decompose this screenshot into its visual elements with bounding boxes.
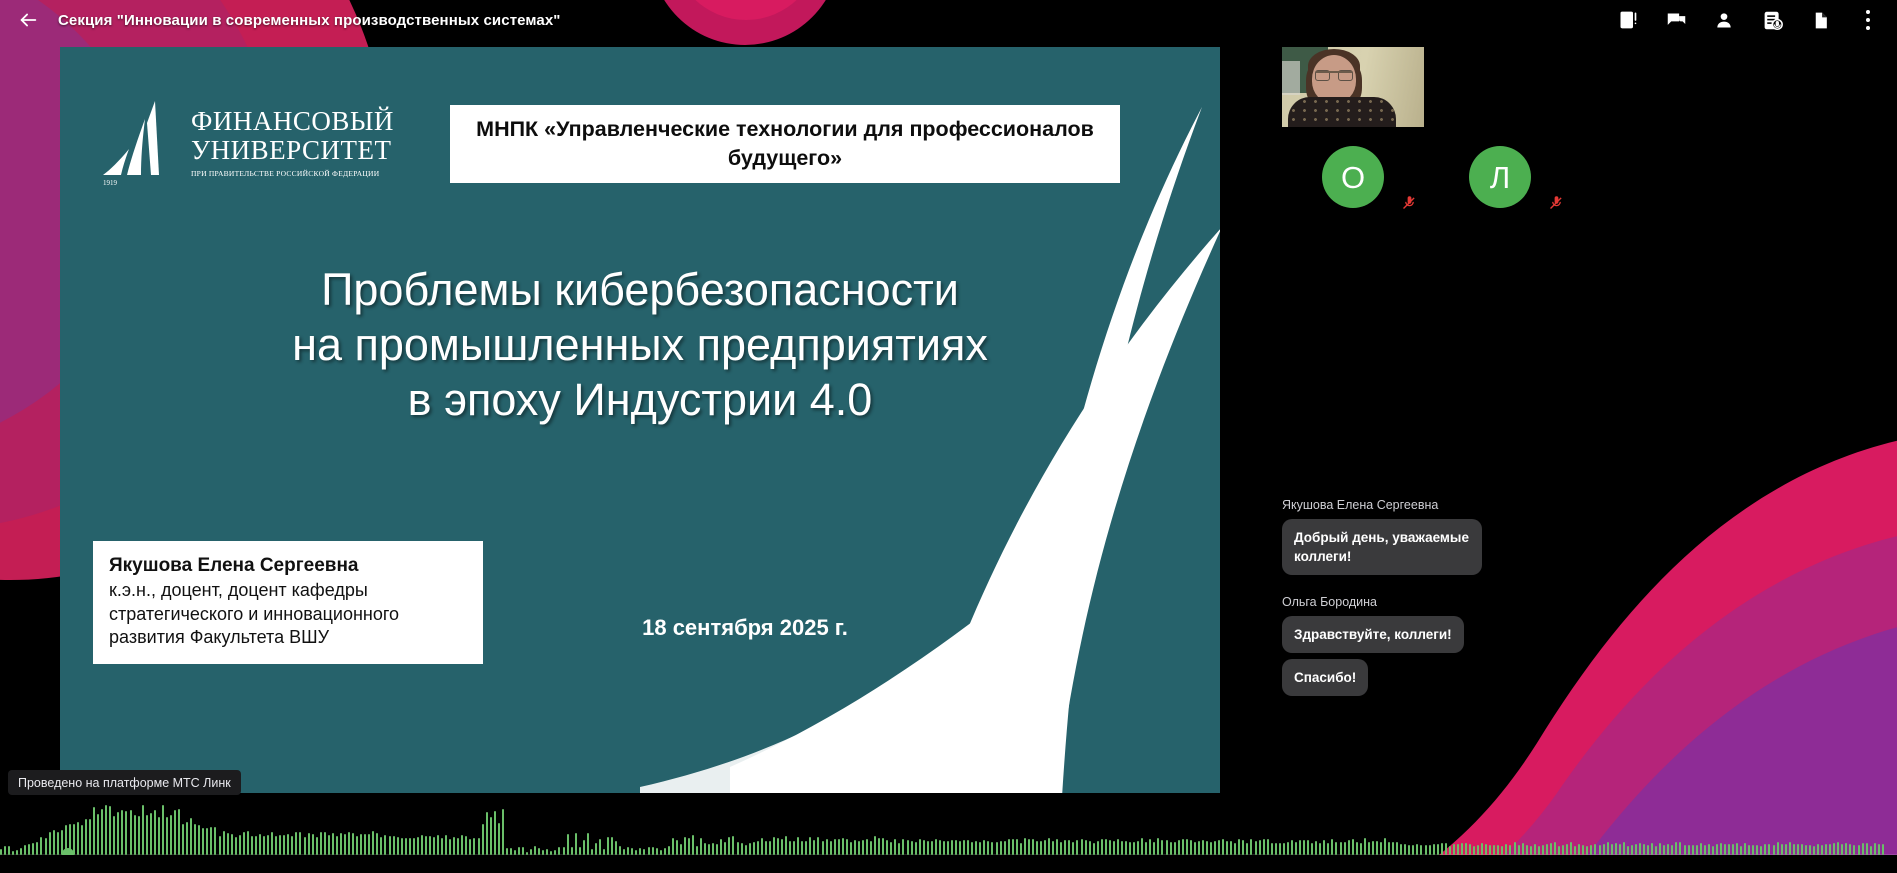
shared-slide[interactable]: 1919 ФИНАНСОВЫЙ УНИВЕРСИТЕТ ПРИ ПРАВИТЕЛ… <box>60 47 1220 793</box>
conference-banner-text: МНПК «Управленческие технологии для проф… <box>472 115 1098 173</box>
muted-mic-icon <box>1402 194 1417 211</box>
chat-author: Якушова Елена Сергеевна <box>1282 498 1682 512</box>
avatar-initial: О <box>1341 162 1365 193</box>
slide-sail-graphic <box>610 107 1220 793</box>
svg-text:1919: 1919 <box>103 179 118 187</box>
chat-author: Ольга Бородина <box>1282 595 1682 609</box>
chat-bubble: Здравствуйте, коллеги! <box>1282 616 1464 653</box>
self-video-tile[interactable] <box>1282 47 1424 127</box>
participant-tile-2[interactable]: Л <box>1469 146 1619 296</box>
muted-mic-icon <box>1549 194 1564 211</box>
chat-message-group: Ольга Бородина Здравствуйте, коллеги! Сп… <box>1282 595 1682 702</box>
avatar: Л <box>1469 146 1531 208</box>
self-video-image <box>1282 47 1424 127</box>
logo-subtitle: ПРИ ПРАВИТЕЛЬСТВЕ РОССИЙСКОЙ ФЕДЕРАЦИИ <box>191 169 394 178</box>
participants-icon[interactable] <box>1711 7 1737 33</box>
agenda-icon[interactable] <box>1615 7 1641 33</box>
bottom-strip <box>0 855 1897 873</box>
meeting-window: Секция "Инновации в современных производ… <box>0 0 1897 873</box>
speaker-role: к.э.н., доцент, доцент кафедры стратегич… <box>109 579 467 650</box>
university-logo-mark: 1919 <box>93 97 185 189</box>
chat-message-group: Якушова Елена Сергеевна Добрый день, ува… <box>1282 498 1682 581</box>
topbar-actions <box>1615 7 1897 33</box>
chat-bubble: Спасибо! <box>1282 659 1368 696</box>
top-bar: Секция "Инновации в современных производ… <box>0 0 1897 40</box>
avatar-initial: Л <box>1490 162 1510 193</box>
transcript-icon[interactable] <box>1759 7 1785 33</box>
logo-line-1: ФИНАНСОВЫЙ <box>191 107 394 136</box>
chat-icon[interactable] <box>1663 7 1689 33</box>
chat-bubble: Добрый день, уважаемые коллеги! <box>1282 519 1482 575</box>
platform-tooltip: Проведено на платформе МТС Линк <box>8 770 241 795</box>
meeting-title: Секция "Инновации в современных производ… <box>58 12 560 29</box>
conference-banner: МНПК «Управленческие технологии для проф… <box>450 105 1120 183</box>
chat-overlay: Якушова Елена Сергеевна Добрый день, ува… <box>1282 498 1682 702</box>
logo-line-2: УНИВЕРСИТЕТ <box>191 136 394 165</box>
speaker-info-box: Якушова Елена Сергеевна к.э.н., доцент, … <box>93 541 483 664</box>
slide-title: Проблемы кибербезопасности на промышленн… <box>60 262 1220 427</box>
university-logo-text: ФИНАНСОВЫЙ УНИВЕРСИТЕТ ПРИ ПРАВИТЕЛЬСТВЕ… <box>191 97 394 178</box>
university-logo: 1919 ФИНАНСОВЫЙ УНИВЕРСИТЕТ ПРИ ПРАВИТЕЛ… <box>93 97 423 192</box>
more-options-icon[interactable] <box>1855 7 1881 33</box>
avatar: О <box>1322 146 1384 208</box>
back-arrow-icon[interactable] <box>8 0 48 40</box>
document-icon[interactable] <box>1807 7 1833 33</box>
participant-tile-1[interactable]: О <box>1322 146 1472 296</box>
slide-date: 18 сентября 2025 г. <box>530 615 960 641</box>
speaker-name: Якушова Елена Сергеевна <box>109 553 467 578</box>
